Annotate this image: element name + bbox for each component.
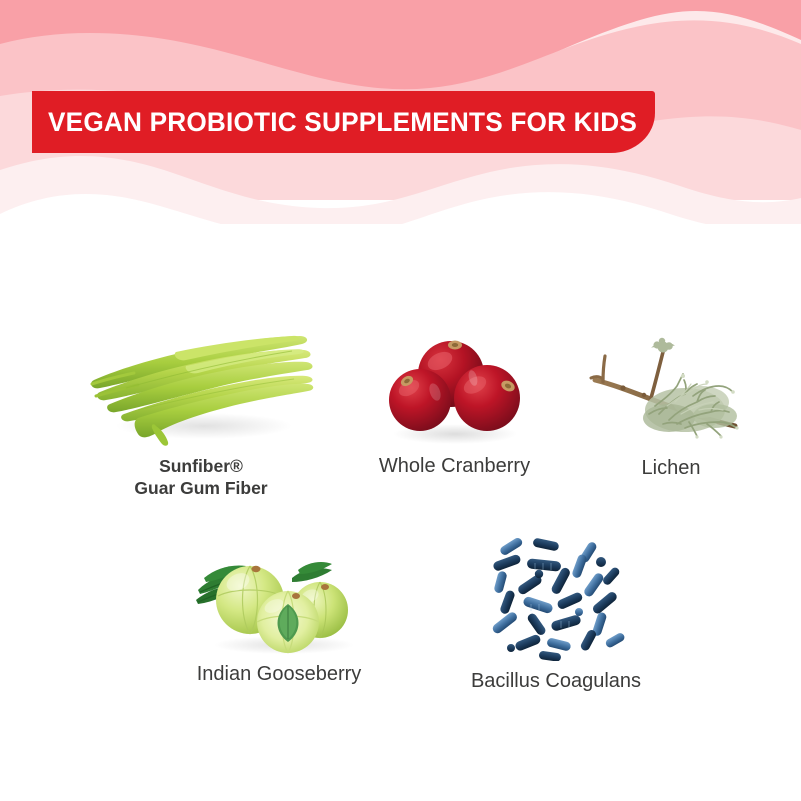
lichen-on-twig-icon	[589, 336, 754, 446]
ingredient-label-cranberry: Whole Cranberry	[328, 454, 581, 480]
indian-gooseberry-amla-icon	[192, 538, 367, 656]
ingredient-bacillus-coagulans: Bacillus Coagulans	[425, 536, 687, 695]
ingredient-cranberry: Whole Cranberry	[328, 330, 581, 480]
page-title: VEGAN PROBIOTIC SUPPLEMENTS FOR KIDS	[48, 107, 637, 138]
ingredient-label-guar-gum: Sunfiber® Guar Gum Fiber	[70, 455, 332, 500]
title-banner: VEGAN PROBIOTIC SUPPLEMENTS FOR KIDS	[32, 91, 655, 153]
bacillus-coagulans-rods-icon	[481, 536, 631, 661]
guar-bean-pods-icon	[86, 322, 316, 447]
ingredient-label-indian-gooseberry: Indian Gooseberry	[140, 662, 418, 688]
whole-cranberries-icon	[375, 330, 535, 448]
ingredient-lichen: Lichen	[580, 336, 762, 482]
ingredient-guar-gum: Sunfiber® Guar Gum Fiber	[70, 322, 332, 500]
ingredient-label-lichen: Lichen	[580, 456, 762, 482]
ingredient-indian-gooseberry: Indian Gooseberry	[140, 538, 418, 688]
ingredient-label-bacillus-coagulans: Bacillus Coagulans	[425, 669, 687, 695]
infographic-page: VEGAN PROBIOTIC SUPPLEMENTS FOR KIDS	[0, 0, 801, 801]
